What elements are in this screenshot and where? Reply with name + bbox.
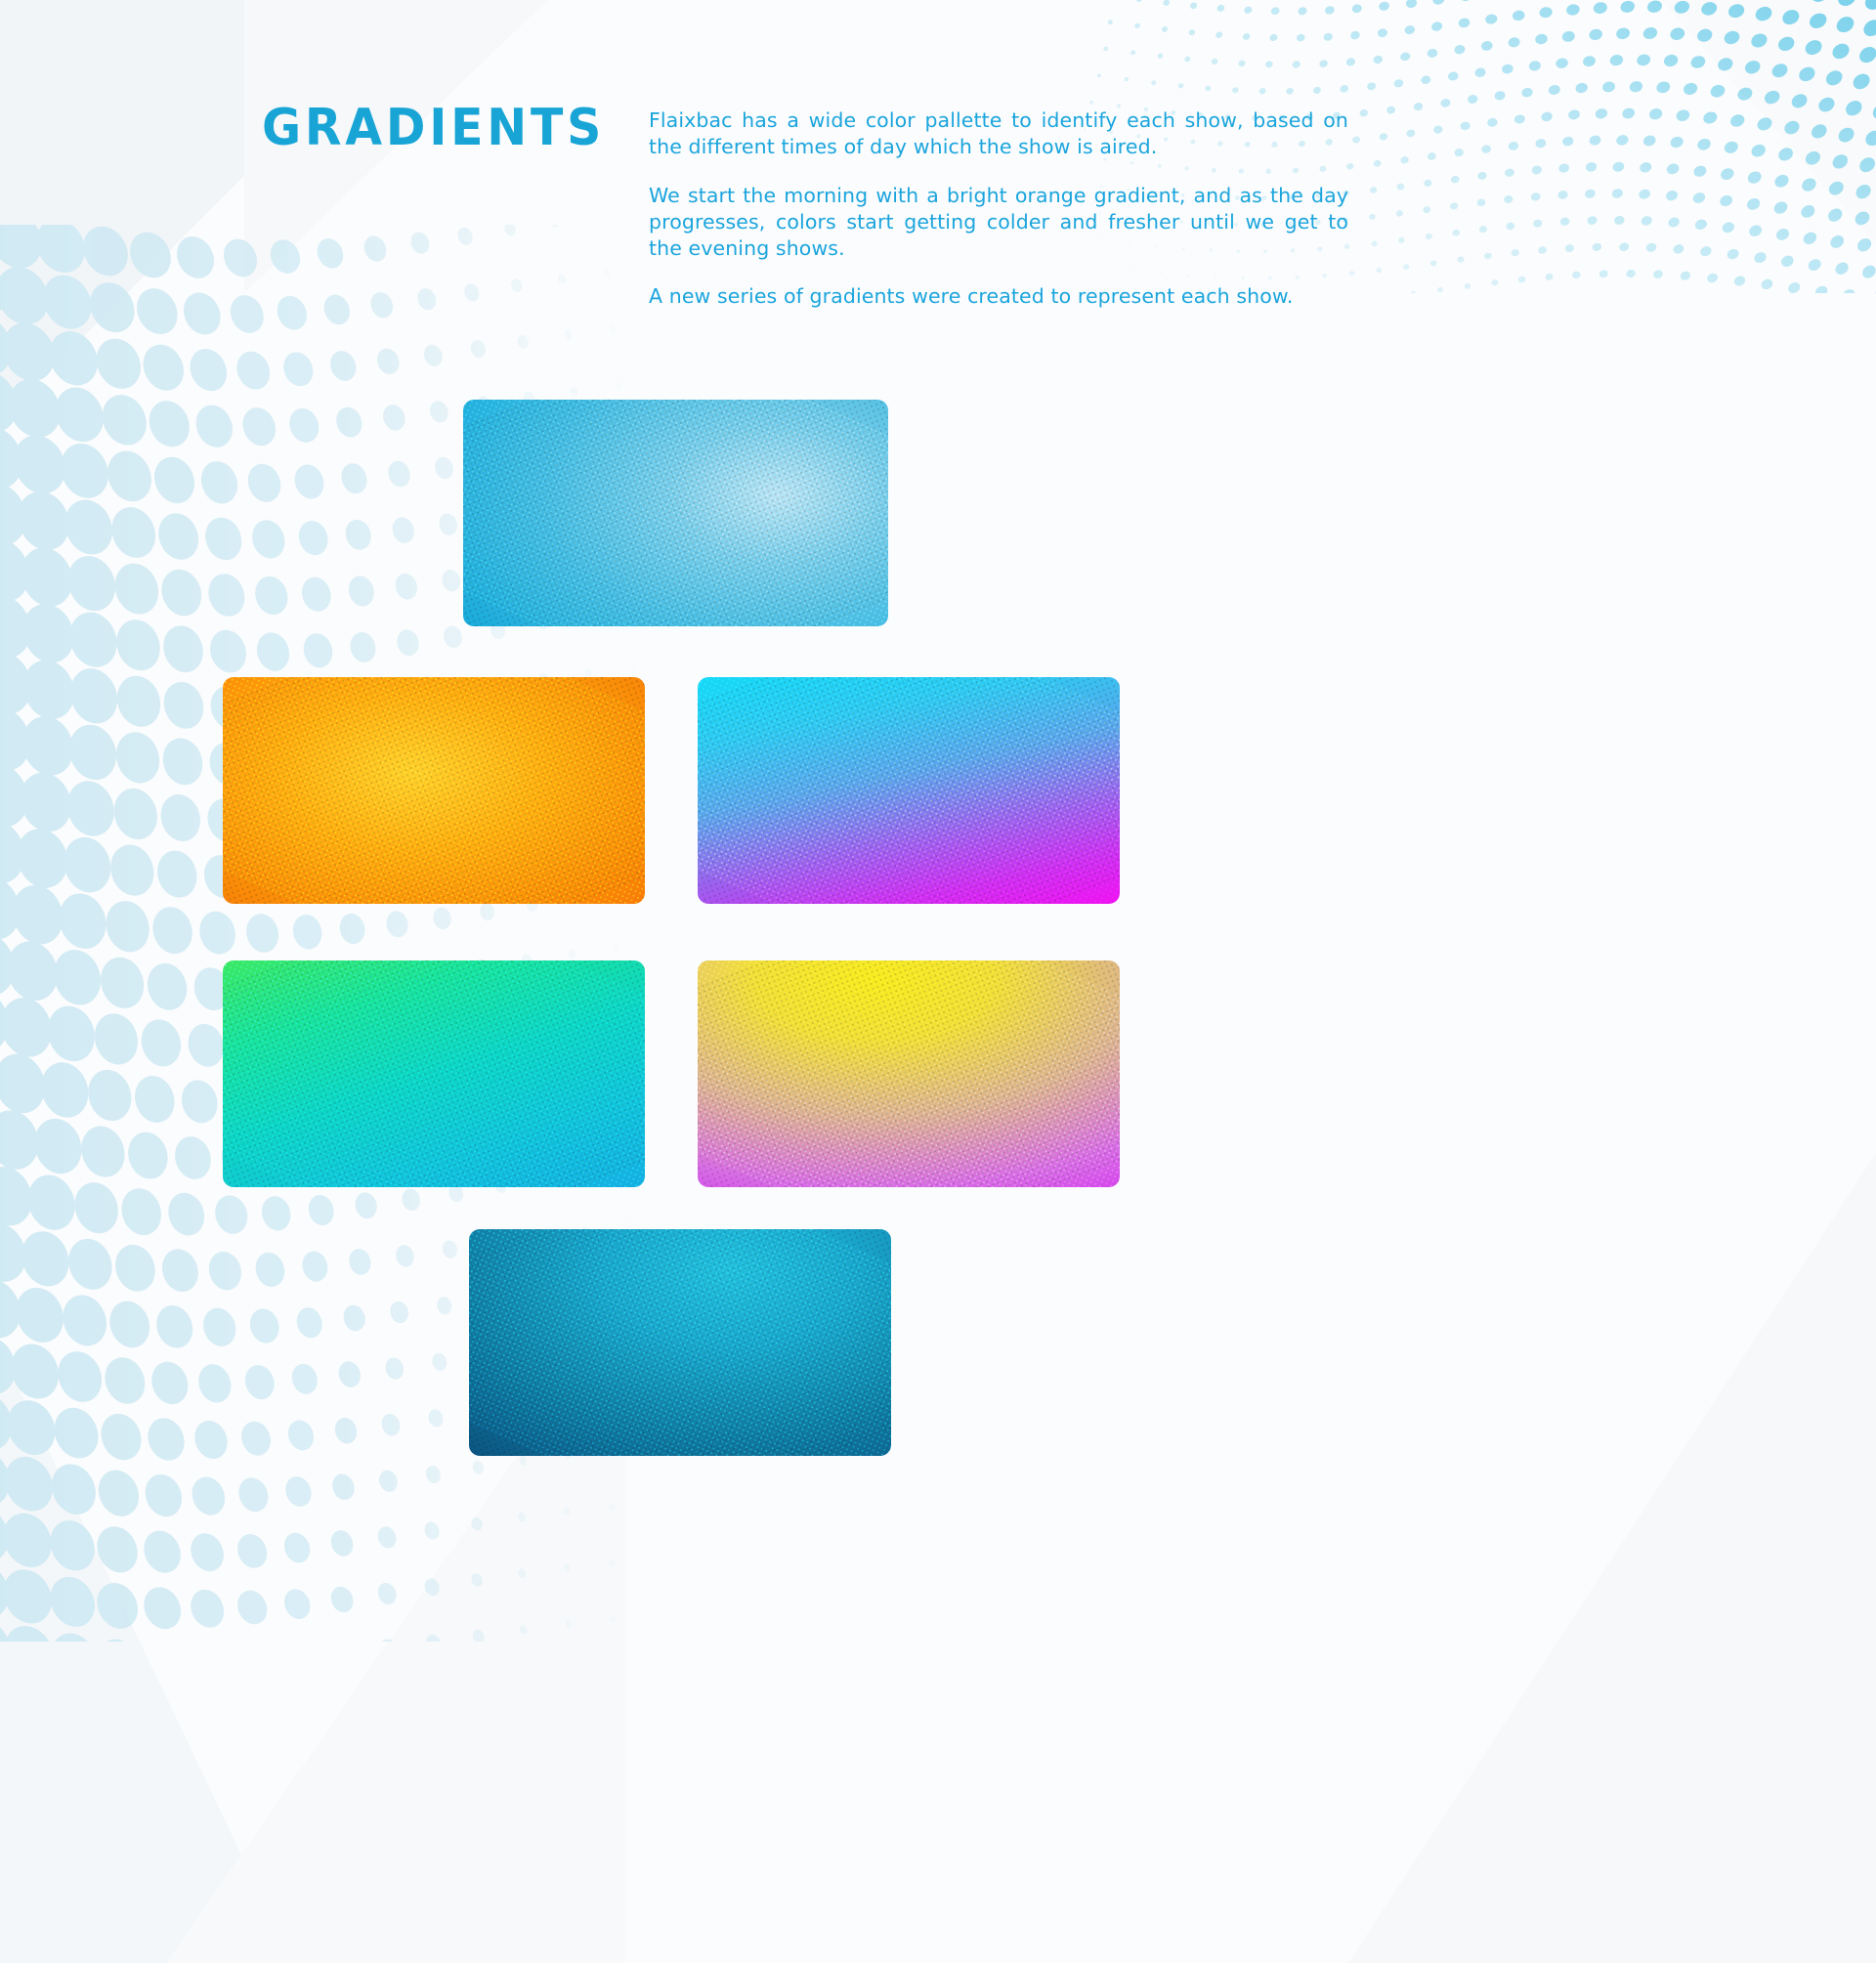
halftone-texture-overlay-secondary bbox=[698, 960, 1120, 1187]
slide-canvas: GRADIENTS Flaixbac has a wide color pall… bbox=[0, 0, 1876, 1963]
page-title: GRADIENTS bbox=[262, 103, 605, 153]
gradient-card-sky-blue[interactable] bbox=[463, 400, 888, 626]
gradient-card-yellow-magenta[interactable] bbox=[698, 960, 1120, 1187]
intro-paragraph-3: A new series of gradients were created t… bbox=[649, 283, 1348, 310]
intro-copy: Flaixbac has a wide color pallette to id… bbox=[649, 107, 1348, 311]
halftone-texture-overlay-secondary bbox=[463, 400, 888, 626]
intro-paragraph-2: We start the morning with a bright orang… bbox=[649, 183, 1348, 263]
gradient-card-cyan-magenta[interactable] bbox=[698, 677, 1120, 904]
intro-paragraph-1: Flaixbac has a wide color pallette to id… bbox=[649, 107, 1348, 161]
gradient-card-orange-amber[interactable] bbox=[223, 677, 645, 904]
gradient-card-green-teal[interactable] bbox=[223, 960, 645, 1187]
halftone-texture-overlay-secondary bbox=[698, 677, 1120, 904]
halftone-texture-overlay-secondary bbox=[223, 960, 645, 1187]
halftone-texture-overlay-secondary bbox=[469, 1229, 891, 1456]
halftone-texture-overlay-secondary bbox=[223, 677, 645, 904]
gradient-card-deep-teal[interactable] bbox=[469, 1229, 891, 1456]
